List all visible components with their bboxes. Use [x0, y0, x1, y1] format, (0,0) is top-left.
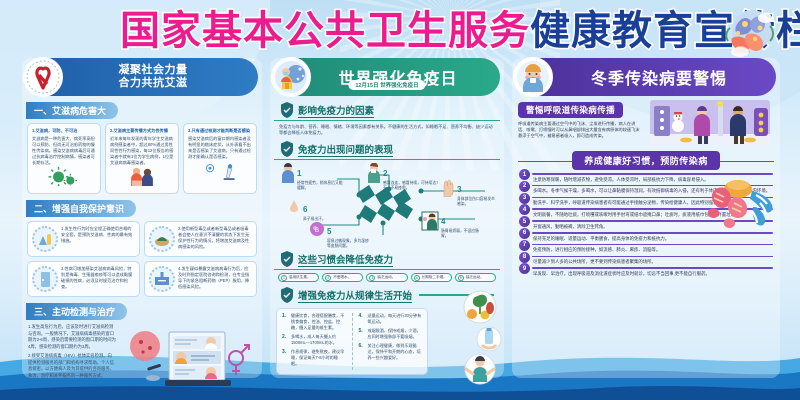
- diagram-item: 2 感冒连连，感冒持续，可持续达7天，不易痊愈。: [367, 163, 441, 191]
- pill-text: 缺乏运动。: [377, 275, 395, 280]
- clinic-icon: [149, 266, 175, 292]
- pill-text: 滥用抗生素。: [289, 275, 311, 280]
- item-number: 7: [519, 240, 530, 251]
- item-text: 早发现、早治疗，出现呼吸道及消化道症状时应及时就诊，切忌不当回事,更不能自行服药…: [519, 269, 773, 277]
- svg-text:B: B: [315, 228, 319, 234]
- virus-icon: [32, 166, 96, 186]
- icon-card: 3.性病可增加感染艾滋病病毒风险，特别是梅毒、生殖器疱疹等可以造成黏膜破损的性病…: [27, 261, 140, 297]
- sick-child-icon: [513, 57, 553, 97]
- diagram-item: B 5 容易过敏现象，多为湿疹等皮肤问题。: [309, 221, 371, 249]
- sneezing-person-icon: [367, 163, 381, 183]
- left-section1-label: 一、艾滋病危害大: [26, 102, 118, 119]
- item-number: 2: [519, 181, 530, 192]
- list-item: 5.戒烟限酒，保持戒烟，少酒，应同时增强肺部不要吸烟。: [359, 328, 423, 340]
- list-item: 9早发现、早治疗，出现呼吸道及消化道症状时应及时就诊，切忌不当回事,更不能自行服…: [519, 267, 773, 277]
- item-text: 适量运动，每天进行30分钟有氧运动。: [368, 313, 423, 325]
- diagram-item: 1 经常性疲劳，稍休息后又能缓解。: [281, 163, 345, 191]
- left-panel-title-line2: 合力共抗艾滋: [119, 77, 188, 90]
- right-panel: 冬季传染病要警惕 警惕呼吸道传染病传播 呼吸道传染病主要通过空气中的飞沫、尘埃进…: [512, 58, 780, 378]
- card: 3.只有通过检测才能判断是否感染 感染艾滋病后的窗口期内感染者没有明显的临床症状…: [183, 123, 257, 194]
- winter-people-icon: [646, 100, 774, 146]
- mid-panel: 世界强化免疫日 12月15日 世界强化免疫日 影响免疫力的因素 免疫力与年龄、营…: [270, 58, 504, 378]
- mid-section1-title: 影响免疫力的因素: [298, 103, 374, 118]
- shield-icon: [280, 251, 294, 267]
- right-section1: 警惕呼吸道传染病传播 呼吸道传染病主要通过空气中的飞沫、尘埃进行传播，病人在讲话…: [512, 100, 780, 146]
- hand-wound-icon: [441, 179, 455, 197]
- mid-section1-text: 免疫力与年龄、营养、睡眠、情绪、环境等因素都有关系。不健康的生活方式，如睡眠不足…: [270, 124, 504, 136]
- left-panel-header: 凝聚社会力量 合力共抗艾滋: [26, 58, 258, 96]
- card-body: 艾滋病是一种危害大、病死率高但可以预防、但尚无可治愈药物的慢性传染病。感染艾滋病…: [32, 136, 96, 166]
- left-section2-label: 二、增强自我保护意识: [26, 200, 136, 217]
- diagram-item: 3 身体部位伤口容易发炎感染。: [441, 179, 497, 207]
- mid-section3-title: 这些习惯会降低免疫力: [298, 252, 393, 267]
- water-bottle-icon: [476, 326, 502, 352]
- item-number: 2: [383, 169, 387, 178]
- list-column: 1.健康饮食，合理搭配膳食，不挑食偏食，控油、控盐、控糖，摄入足量的维生素。 2…: [282, 313, 346, 370]
- drug-icon: [149, 226, 175, 252]
- mid-panel-subtitle: 12月15日 世界强化免疫日: [348, 80, 425, 90]
- list-item: 7免疫预防，进行相应的预防接种，如流感、肺炎、麻疹、流脑等。: [519, 244, 773, 254]
- pill-number: 1: [281, 275, 287, 281]
- item-number: 5: [327, 227, 331, 236]
- paragraph: 1.发生高危行为后，应该及时进行艾滋病检测与咨询。一般情况下，艾滋病病毒感染的窗…: [28, 324, 116, 350]
- tired-person-icon: [281, 163, 295, 183]
- item-text: 身体部位伤口容易发炎感染。: [457, 197, 497, 207]
- item-text: 开窗通风，勤晒被褥，清除卫生死角。: [519, 222, 679, 230]
- pill-text: 长期吸二手烟。: [422, 275, 447, 280]
- list-column: 4.适量运动，每天进行30分钟有氧运动。 5.戒烟限酒，保持戒烟，少酒，应同时增…: [359, 313, 423, 370]
- shield-icon: [280, 287, 294, 303]
- item-text: 肠胃易娇弱，不适应肠胃。: [441, 229, 481, 239]
- mid-section1-header: 影响免疫力的因素: [274, 102, 500, 121]
- card-body: 近年来每年发现的青年学生艾滋病病例感染者中，超过80%通过男性同性性行为感染，每…: [110, 136, 174, 166]
- item-text: 免疫预防，进行相应的预防接种，如流感、肺炎、麻疹、流脑等。: [519, 245, 687, 253]
- icon-card: 4.发生疑似暴露艾滋病病毒行为后，应及时到指定医院咨询和检测，在专业指导下的紧急…: [144, 261, 257, 297]
- right-section2-header: 养成健康好习惯，预防传染病: [518, 151, 774, 170]
- door-icon: [32, 266, 58, 292]
- item-text: 关注心理健康，做到乐观豁达，保持平和开朗的心态，培养一些兴趣爱好。: [368, 343, 423, 361]
- aids-ribbon-icon: [23, 57, 63, 97]
- card: 1.艾滋病，可防、不可治 艾滋病是一种危害大、病死率高但可以预防、但尚无可治愈药…: [27, 123, 101, 194]
- list-item: 6保持充足的睡眠、适量运动、平衡膳食，提高身体的免疫力和抵抗力。: [519, 232, 773, 242]
- item-number: 2.: [282, 334, 289, 346]
- item-number: 3: [519, 193, 530, 204]
- pill-number: 5: [458, 275, 464, 281]
- habit-pill: 4长期吸二手烟。: [411, 273, 452, 282]
- item-text: 戒烟限酒，保持戒烟，少酒，应同时增强肺部不要吸烟。: [368, 328, 423, 340]
- mittens-scarf-icon: [708, 179, 780, 233]
- item-number: 1.: [282, 313, 289, 331]
- habit-pill: 1滥用抗生素。: [278, 273, 319, 282]
- mid-section4-title: 增强免疫力从规律生活开始: [298, 288, 412, 303]
- right-section1-text: 呼吸道传染病主要通过空气中的飞沫、尘埃进行传播，病人在讲话、咳嗽、打喷嚏时可以从…: [518, 121, 642, 139]
- nose-icon: [287, 199, 301, 213]
- right-section1-title: 警惕呼吸道传染病传播: [518, 102, 623, 118]
- microscope-icon: [188, 160, 252, 180]
- list-item: 2.多喝水，成人每天摄入约1500mL—1700mL的水。: [282, 334, 346, 346]
- icon-card-text: 4.发生疑似暴露艾滋病病毒行为后，应及时到指定医院咨询和检测，在专业指导下的紧急…: [178, 266, 252, 292]
- list-item: 8尽量减少到人多的公共场所，更不要到传染病患者聚集的场所。: [519, 256, 773, 266]
- shield-icon: [280, 141, 294, 157]
- item-text: 鼻子易出汗。: [303, 217, 339, 222]
- mid-section2-header: 免疫力出现问题的表现: [274, 141, 500, 160]
- list-item: 6.关注心理健康，做到乐观豁达，保持平和开朗的心态，培养一些兴趣爱好。: [359, 343, 423, 361]
- telemedicine-icon: [120, 324, 256, 394]
- item-text: 多喝水，成人每天摄入约1500mL—1700mL的水。: [291, 334, 346, 346]
- right-section2-title: 养成健康好习惯，预防传染病: [572, 151, 720, 170]
- hands-flowers-icon: [710, 4, 790, 62]
- shield-icon: [280, 102, 294, 118]
- left-panel-title-line1: 凝聚社会力量: [119, 64, 188, 77]
- mid-section3-pills: 1滥用抗生素。 2不爱喝水。 3缺乏运动。 4长期吸二手烟。 5缺乏运动。: [270, 273, 504, 282]
- left-section3-label: 三、主动检测与治疗: [26, 303, 127, 320]
- card-title: 2.艾滋病主要传播方式为性传播: [110, 128, 174, 134]
- pill-number: 3: [369, 275, 375, 281]
- card: 2.艾滋病主要传播方式为性传播 近年来每年发现的青年学生艾滋病病例感染者中，超过…: [105, 123, 179, 194]
- right-panel-title: 冬季传染病要警惕: [565, 65, 727, 89]
- item-text: 容易过敏现象，多为湿疹等皮肤问题。: [327, 239, 371, 249]
- stomach-person-icon: [421, 211, 439, 231]
- item-number: 1: [519, 169, 530, 180]
- icon-card-text: 2.使用新型毒品或者新型毒品或者吸毒者会使人在意识不清醒的状态下发生无保护性行为…: [178, 226, 252, 252]
- item-number: 3: [457, 185, 461, 194]
- habit-pill: 3缺乏运动。: [366, 273, 407, 282]
- mid-section2-title: 免疫力出现问题的表现: [298, 142, 393, 157]
- habit-pill: 5缺乏运动。: [455, 273, 496, 282]
- mid-panel-header: 世界强化免疫日 12月15日 世界强化免疫日: [274, 58, 500, 96]
- card-title: 3.只有通过检测才能判断是否感染: [188, 128, 252, 134]
- item-number: 8: [519, 252, 530, 263]
- pill-number: 4: [414, 275, 420, 281]
- item-number: 1: [297, 169, 301, 178]
- page-header: 国家基本公共卫生服务健康教育宣传栏: [0, 0, 800, 62]
- vaccination-family-icon: [271, 57, 311, 97]
- habit-pill: 2不爱喝水。: [322, 273, 363, 282]
- pill-text: 不爱喝水。: [333, 275, 351, 280]
- item-text: 感冒连连，感冒持续，可持续达7天，不易痊愈。: [383, 181, 441, 191]
- card-body: 感染艾滋病后的窗口期内感染者没有明显的临床症状，从外表看不出来是否感染了艾滋病，…: [188, 136, 252, 160]
- item-number: 4.: [359, 313, 366, 325]
- item-number: 6: [519, 228, 530, 239]
- diagram-item: 4 肠胃易娇弱，不适应肠胃。: [421, 211, 481, 239]
- left-panel-title: 凝聚社会力量 合力共抗艾滋: [97, 64, 188, 90]
- left-section2-cards: 1.发生性行为时应全程正确使用合格的安全套，是预防艾滋病、性病的最有效措施。 2…: [22, 221, 262, 297]
- list-item: 3.作息规律，避免熬夜，建议早睡，保证每天7-8小时的睡眠。: [282, 349, 346, 367]
- right-panel-header: 冬季传染病要警惕: [516, 58, 776, 96]
- exercise-person-icon: [462, 352, 498, 386]
- icon-card: 2.使用新型毒品或者新型毒品或者吸毒者会使人在意识不清醒的状态下发生无保护性行为…: [144, 221, 257, 257]
- item-text: 健康饮食，合理搭配膳食，不挑食偏食，控油、控盐、控糖，摄入足量的维生素。: [291, 313, 346, 331]
- icon-card: 1.发生性行为时应全程正确使用合格的安全套，是预防艾滋病、性病的最有效措施。: [27, 221, 140, 257]
- pill-number: 2: [325, 275, 331, 281]
- vegetables-icon: [460, 290, 500, 324]
- page-title: 国家基本公共卫生服务健康教育宣传栏: [120, 8, 695, 54]
- list-item: 1.健康饮食，合理搭配膳食，不挑食偏食，控油、控盐、控糖，摄入足量的维生素。: [282, 313, 346, 331]
- left-section3-body: 1.发生高危行为后，应该及时进行艾滋病检测与咨询。一般情况下，艾滋病病毒感染的窗…: [22, 324, 262, 394]
- item-number: 6: [303, 205, 307, 214]
- item-text: 尽量减少到人多的公共场所，更不要到传染病患者聚集的场所。: [519, 257, 773, 265]
- left-panel: 凝聚社会力量 合力共抗艾滋 一、艾滋病危害大 1.艾滋病，可防、不可治 艾滋病是…: [22, 58, 262, 378]
- item-text: 保持充足的睡眠、适量运动、平衡膳食，提高身体的免疫力和抵抗力。: [519, 234, 687, 242]
- left-section1-cards: 1.艾滋病，可防、不可治 艾滋病是一种危害大、病死率高但可以预防、但尚无可治愈药…: [22, 123, 262, 194]
- item-number: 4: [441, 217, 445, 226]
- mid-section2-diagram: 1 经常性疲劳，稍休息后又能缓解。 2 感冒连连，感冒持续，可持续达7天，不易痊…: [275, 163, 499, 251]
- item-text: 经常性疲劳，稍休息后又能缓解。: [297, 181, 345, 191]
- icon-card-text: 1.发生性行为时应全程正确使用合格的安全套，是预防艾滋病、性病的最有效措施。: [61, 226, 135, 252]
- paragraph: 2.接受艾滋病病毒（HIV）抗体实名检测。向提供检测服务的部门和机构寻求帮助，个…: [28, 353, 116, 379]
- card-title: 1.艾滋病，可防、不可治: [32, 128, 96, 134]
- pill-text: 缺乏运动。: [466, 275, 484, 280]
- icon-card-text: 3.性病可增加感染艾滋病病毒风险，特别是梅毒、生殖器疱疹等可以造成黏膜破损的性病…: [61, 266, 135, 292]
- people-icon: [110, 166, 174, 186]
- item-number: 6.: [359, 343, 366, 361]
- mid-section3-header: 这些习惯会降低免疫力: [274, 251, 500, 270]
- item-number: 3.: [282, 349, 289, 367]
- item-number: 5.: [359, 328, 366, 340]
- safety-icon: [32, 226, 58, 252]
- right-section2-list: 1注意防寒保暖，随时增减衣物，避免受凉。人体受凉时，局部抵抗力下降，病毒容易侵入…: [512, 173, 780, 277]
- list-item: 4.适量运动，每天进行30分钟有氧运动。: [359, 313, 423, 325]
- diagram-item: 6 鼻子易出汗。: [287, 199, 339, 222]
- mid-section4-list: 1.健康饮食，合理搭配膳食，不挑食偏食，控油、控盐、控糖，摄入足量的维生素。 2…: [276, 308, 428, 375]
- allergy-cell-icon: B: [309, 221, 325, 237]
- item-text: 作息规律，避免熬夜，建议早睡，保证每天7-8小时的睡眠。: [291, 349, 346, 367]
- page-title-part1: 国家基本公共卫生服务: [120, 8, 530, 54]
